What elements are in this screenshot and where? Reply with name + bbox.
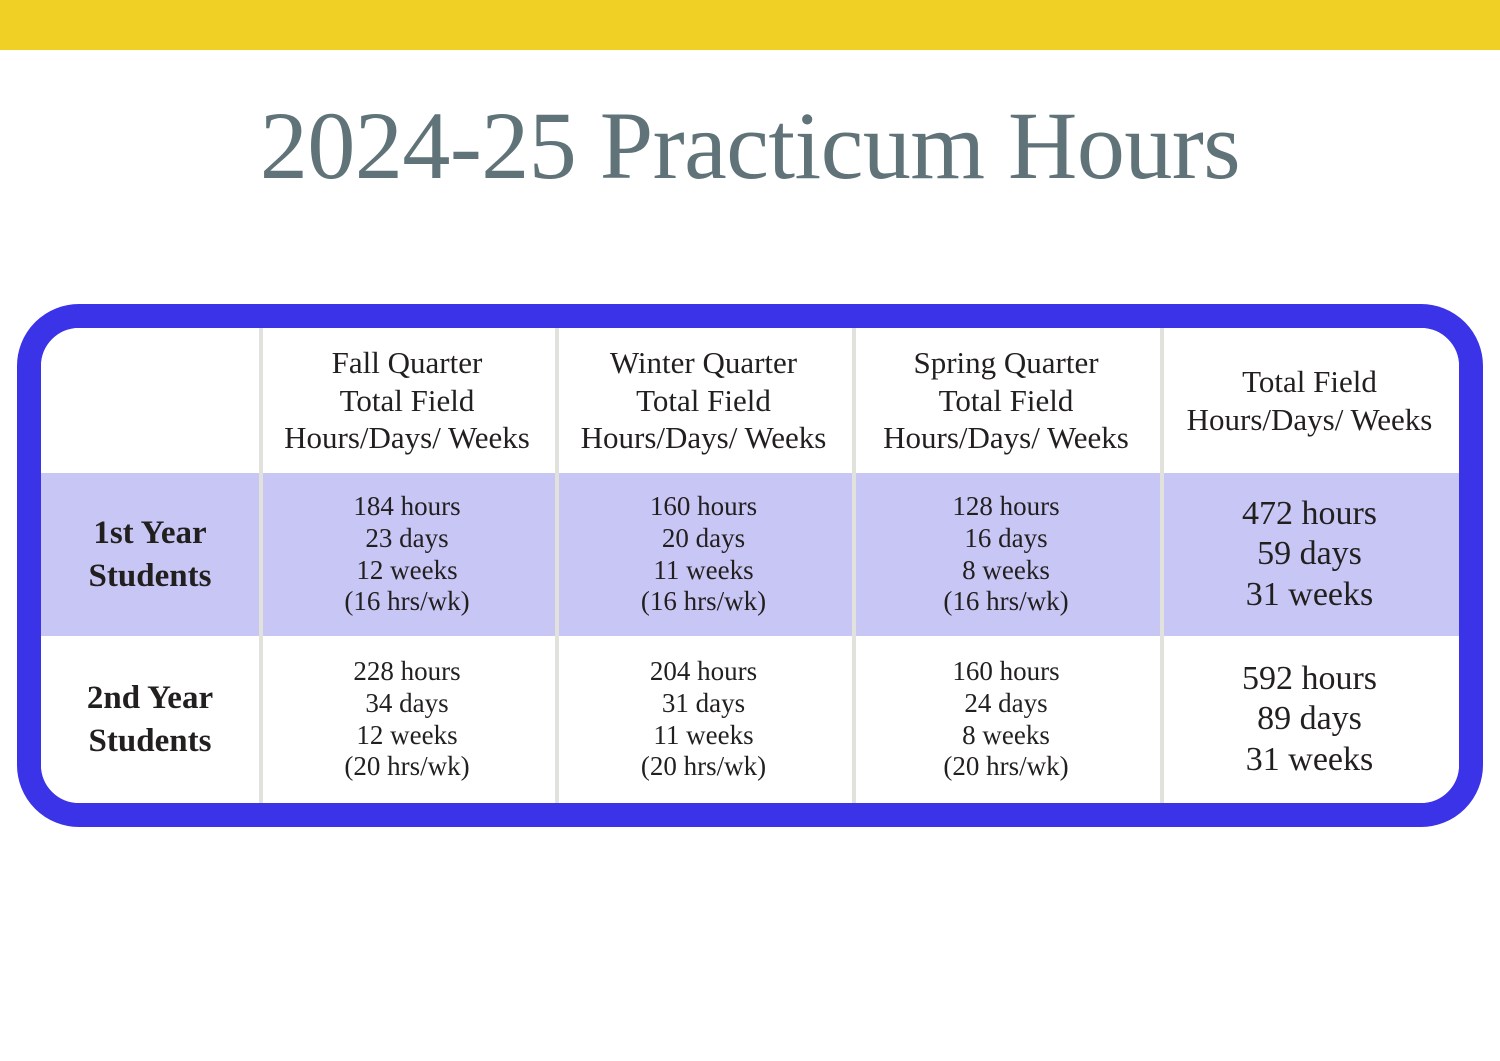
practicum-hours-table: Fall Quarter Total Field Hours/Days/ Wee… [41,328,1459,803]
data-line: 34 days [365,688,448,720]
data-line: 31 weeks [1246,740,1373,780]
data-line: (20 hrs/wk) [344,751,469,783]
page-title: 2024-25 Practicum Hours [0,96,1500,197]
data-line: (16 hrs/wk) [344,586,469,618]
header-line: Hours/Days/ Weeks [284,419,530,457]
header-line: Spring Quarter [913,344,1098,382]
header-line: Hours/Days/ Weeks [883,419,1129,457]
cell-first-year-winter: 160 hours 20 days 11 weeks (16 hrs/wk) [555,473,852,636]
data-line: 160 hours [952,656,1059,688]
row-label-line: Students [89,720,212,762]
header-line: Total Field [1242,363,1377,401]
data-line: 128 hours [952,491,1059,523]
header-cell-total: Total Field Hours/Days/ Weeks [1160,328,1459,473]
data-line: 16 days [964,523,1047,555]
data-line: (20 hrs/wk) [641,751,766,783]
row-label-line: Students [89,555,212,597]
data-line: 24 days [964,688,1047,720]
row-label-line: 2nd Year [87,677,213,719]
table-header-row: Fall Quarter Total Field Hours/Days/ Wee… [41,328,1459,473]
header-line: Winter Quarter [610,344,797,382]
data-line: (16 hrs/wk) [943,586,1068,618]
data-line: 23 days [365,523,448,555]
data-line: 11 weeks [653,555,753,587]
data-line: 11 weeks [653,720,753,752]
data-line: 20 days [662,523,745,555]
data-line: 184 hours [353,491,460,523]
header-line: Total Field [636,382,771,420]
cell-second-year-spring: 160 hours 24 days 8 weeks (20 hrs/wk) [852,636,1160,803]
table-row: 1st Year Students 184 hours 23 days 12 w… [41,473,1459,636]
data-line: 31 days [662,688,745,720]
data-line: 228 hours [353,656,460,688]
data-line: 8 weeks [962,720,1050,752]
row-label-first-year: 1st Year Students [41,473,259,636]
row-label-line: 1st Year [93,512,206,554]
data-line: 8 weeks [962,555,1050,587]
data-line: (16 hrs/wk) [641,586,766,618]
cell-first-year-fall: 184 hours 23 days 12 weeks (16 hrs/wk) [259,473,555,636]
row-label-second-year: 2nd Year Students [41,636,259,803]
header-cell-winter: Winter Quarter Total Field Hours/Days/ W… [555,328,852,473]
data-line: 12 weeks [356,720,457,752]
data-line: 204 hours [650,656,757,688]
cell-second-year-total: 592 hours 89 days 31 weeks [1160,636,1459,803]
cell-first-year-total: 472 hours 59 days 31 weeks [1160,473,1459,636]
header-line: Hours/Days/ Weeks [581,419,827,457]
data-line: 472 hours [1242,494,1377,534]
data-line: 12 weeks [356,555,457,587]
data-line: (20 hrs/wk) [943,751,1068,783]
header-line: Total Field [939,382,1074,420]
data-line: 160 hours [650,491,757,523]
table-row: 2nd Year Students 228 hours 34 days 12 w… [41,636,1459,803]
header-corner-cell [41,328,259,473]
data-line: 59 days [1257,534,1362,574]
data-line: 31 weeks [1246,575,1373,615]
header-line: Hours/Days/ Weeks [1187,401,1433,439]
header-line: Total Field [340,382,475,420]
data-line: 89 days [1257,699,1362,739]
header-line: Fall Quarter [332,344,483,382]
cell-first-year-spring: 128 hours 16 days 8 weeks (16 hrs/wk) [852,473,1160,636]
practicum-hours-card: Fall Quarter Total Field Hours/Days/ Wee… [17,304,1483,827]
data-line: 592 hours [1242,659,1377,699]
cell-second-year-winter: 204 hours 31 days 11 weeks (20 hrs/wk) [555,636,852,803]
cell-second-year-fall: 228 hours 34 days 12 weeks (20 hrs/wk) [259,636,555,803]
header-cell-spring: Spring Quarter Total Field Hours/Days/ W… [852,328,1160,473]
header-cell-fall: Fall Quarter Total Field Hours/Days/ Wee… [259,328,555,473]
top-accent-band [0,0,1500,50]
